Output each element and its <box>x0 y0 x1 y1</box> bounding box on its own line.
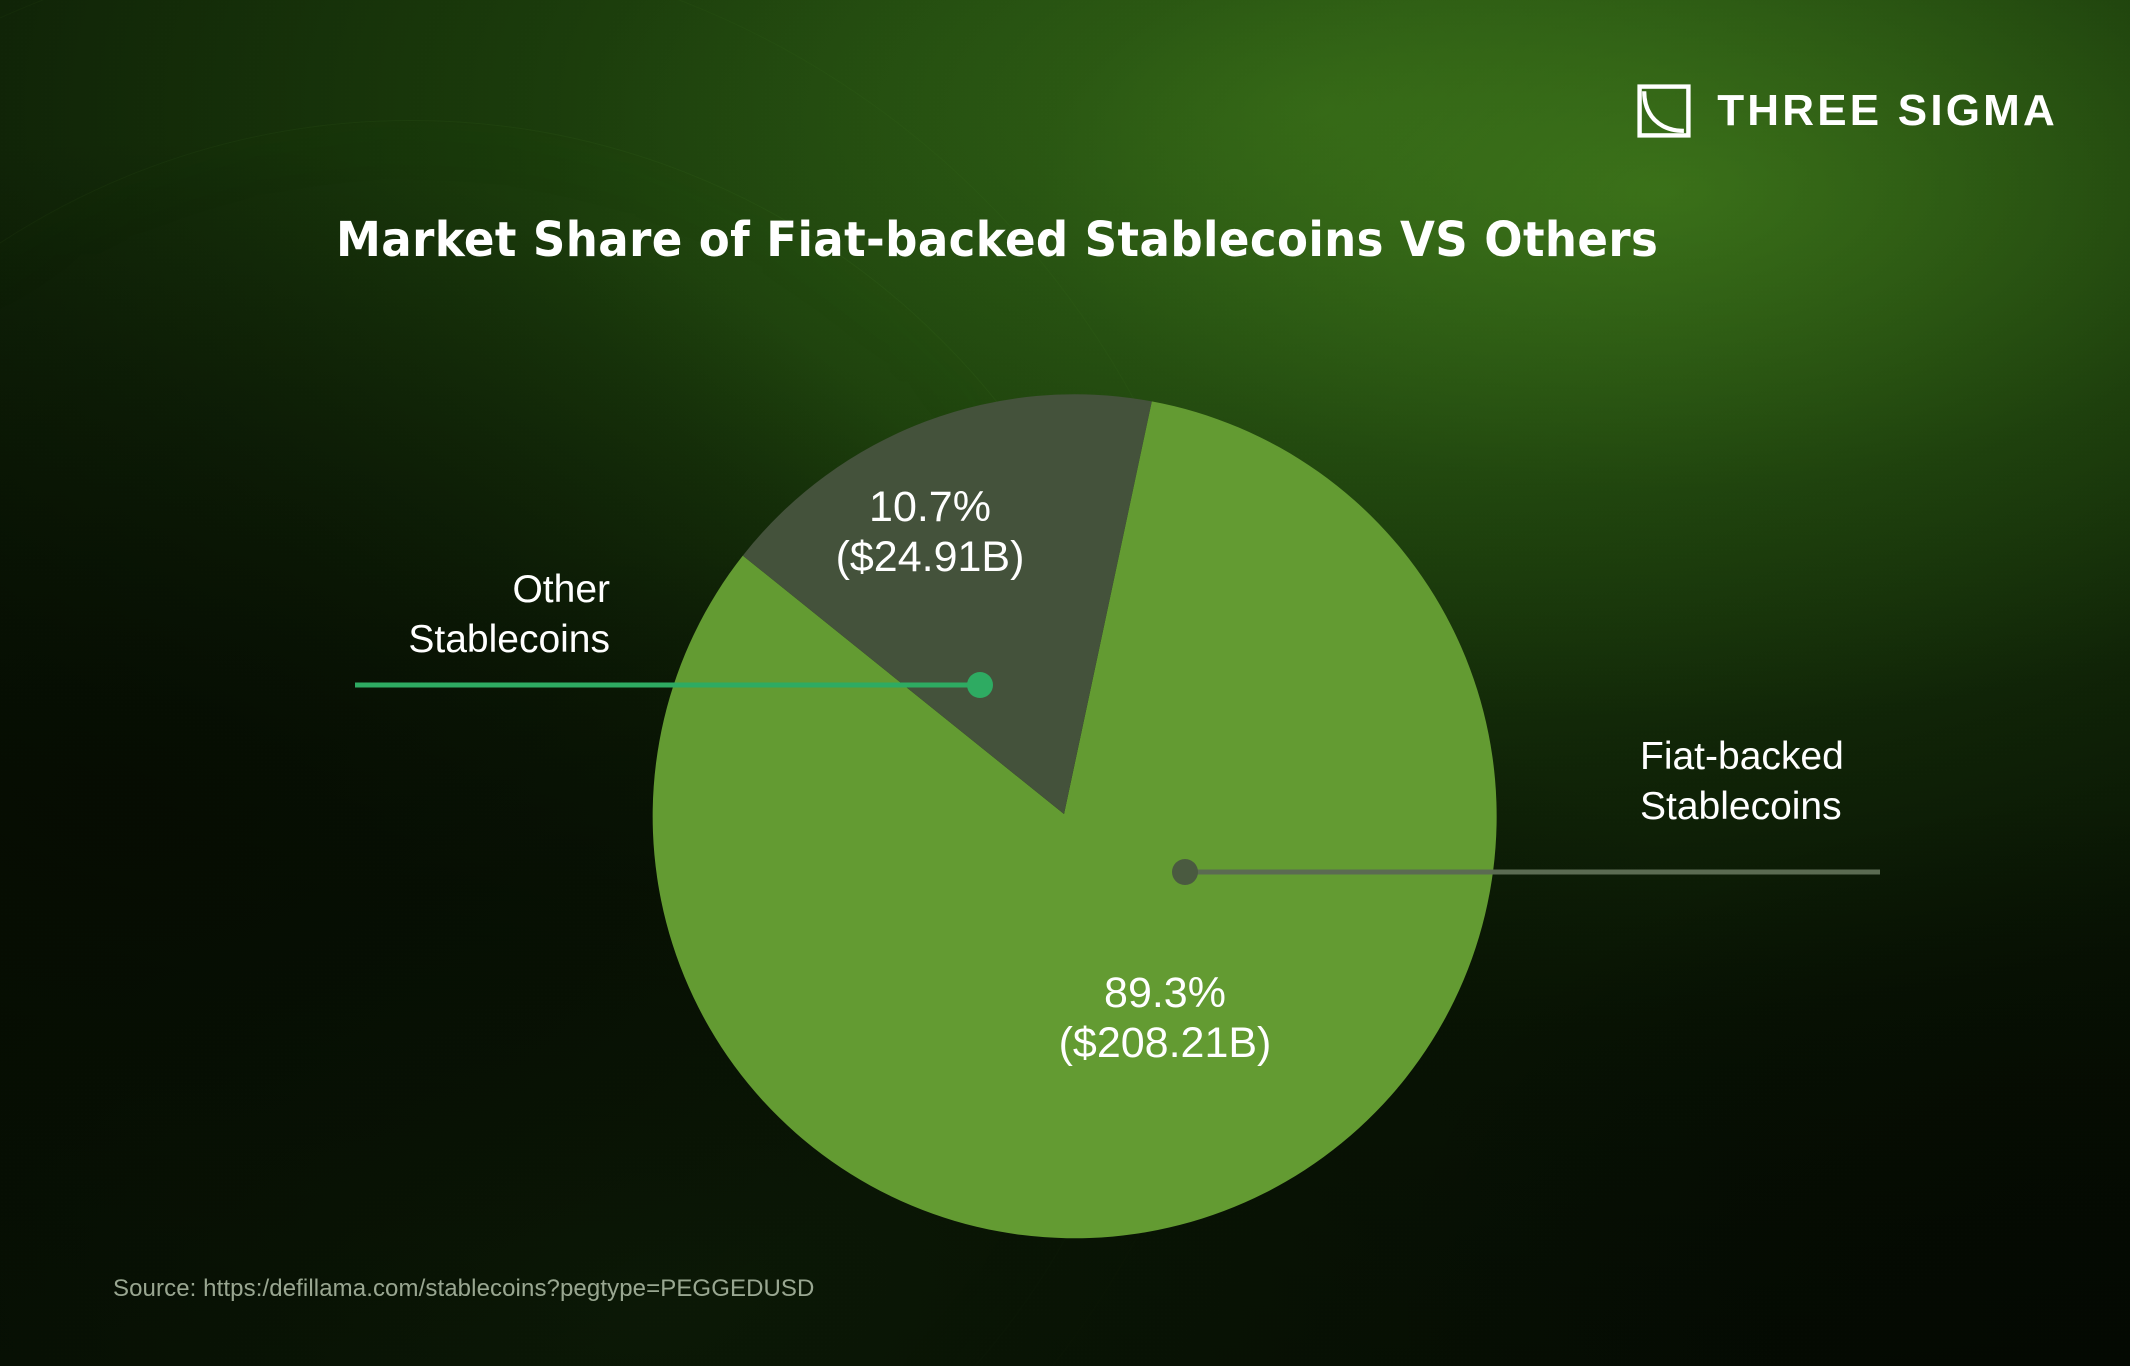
callout-label-fiat-backed: Fiat-backed Stablecoins <box>1640 732 2040 832</box>
slice-fiat-percent: 89.3% <box>955 968 1375 1018</box>
slice-fiat-amount: ($208.21B) <box>955 1018 1375 1068</box>
callout-other-line1: Other <box>260 565 610 615</box>
callout-other-line2: Stablecoins <box>260 615 610 665</box>
slice-other-percent: 10.7% <box>795 482 1065 532</box>
chart-canvas: THREE SIGMA Market Share of Fiat-backed … <box>0 0 2130 1366</box>
callout-fiat-line1: Fiat-backed <box>1640 732 2040 782</box>
callout-fiat-line2: Stablecoins <box>1640 782 2040 832</box>
callout-label-other: Other Stablecoins <box>260 565 610 665</box>
slice-other-amount: ($24.91B) <box>795 532 1065 582</box>
callout-dot-fiat-backed <box>1172 859 1198 885</box>
source-caption: Source: https:/defillama.com/stablecoins… <box>113 1275 814 1303</box>
pie-chart: 10.7% ($24.91B) 89.3% ($208.21B) Other S… <box>0 0 2130 1366</box>
slice-label-other: 10.7% ($24.91B) <box>795 482 1065 583</box>
callout-dot-other <box>967 672 993 698</box>
slice-label-fiat-backed: 89.3% ($208.21B) <box>955 968 1375 1069</box>
